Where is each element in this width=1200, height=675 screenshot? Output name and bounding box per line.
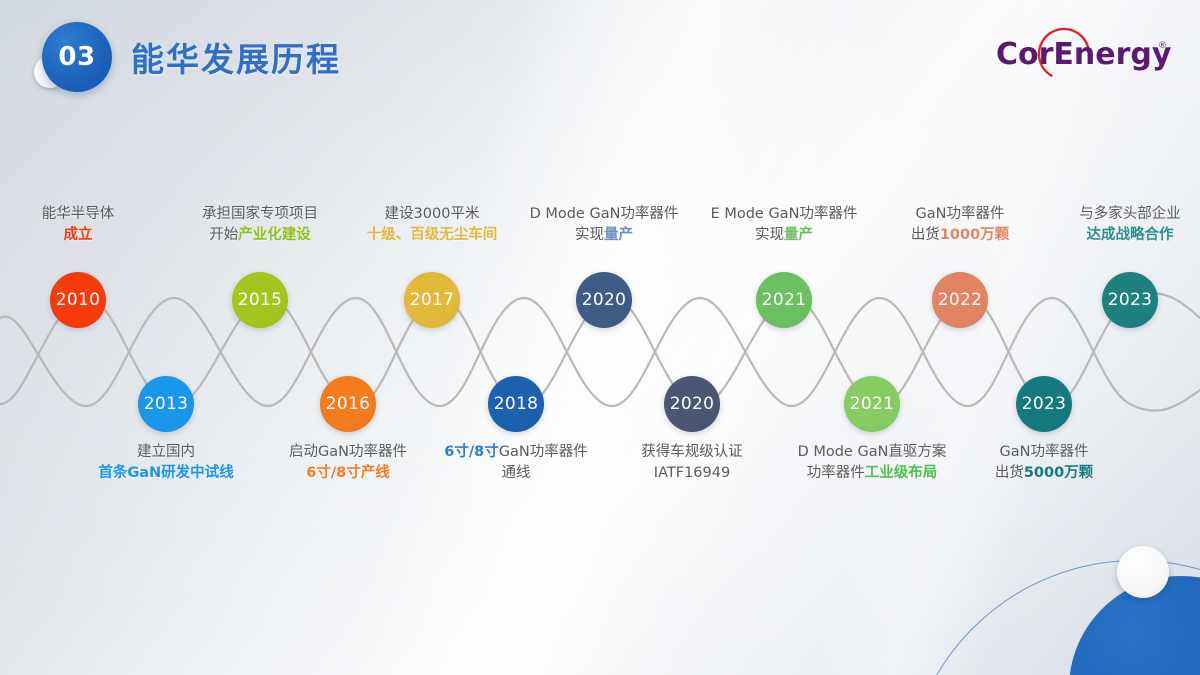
timeline-node-year: 2021 [762, 290, 806, 310]
timeline-node-2023-bottom[interactable]: 2023 [1016, 376, 1072, 432]
timeline-node-2013-bottom[interactable]: 2013 [138, 376, 194, 432]
timeline-label-plain: 获得车规级认证 [641, 444, 743, 460]
timeline-label-line-2: 达成战略合作 [1020, 225, 1200, 246]
timeline-label-highlight: 成立 [64, 227, 93, 243]
timeline-label-plain: 开始 [209, 227, 238, 243]
timeline-label-highlight: 1000万颗 [940, 227, 1009, 243]
timeline-label-highlight: 6寸/8寸产线 [306, 465, 389, 481]
timeline-label-line-1: 与多家头部企业 [1020, 204, 1200, 225]
timeline-node-year: 2010 [56, 290, 100, 310]
timeline-label-plain: 出货 [995, 465, 1024, 481]
timeline-node-year: 2016 [326, 394, 370, 414]
timeline-label-plain: 实现 [575, 227, 604, 243]
logo-trademark-icon: ® [1158, 41, 1167, 51]
timeline-label-highlight: 工业级布局 [865, 465, 938, 481]
timeline-label-plain: 出货 [911, 227, 940, 243]
timeline-label-highlight: 十级、百级无尘车间 [367, 227, 498, 243]
timeline-label-line-2: 出货5000万颗 [934, 463, 1154, 484]
timeline-label-highlight: 量产 [604, 227, 633, 243]
section-number: 03 [58, 42, 95, 72]
timeline-label-plain: D Mode GaN功率器件 [530, 206, 679, 222]
decor-white-circle-icon [1117, 546, 1169, 598]
timeline-node-year: 2020 [582, 290, 626, 310]
timeline-node-2015-top[interactable]: 2015 [232, 272, 288, 328]
timeline-node-year: 2018 [494, 394, 538, 414]
page-title: 能华发展历程 [131, 33, 341, 81]
timeline-label-plain: 与多家头部企业 [1079, 206, 1181, 222]
slide-root: 03 能华发展历程 CorEnergy ® 2010能华半导体成立2013建立国… [0, 0, 1200, 675]
timeline-node-year: 2021 [850, 394, 894, 414]
timeline-label-plain: 建立国内 [137, 444, 195, 460]
timeline-node-year: 2023 [1022, 394, 1066, 414]
timeline-node-2022-top[interactable]: 2022 [932, 272, 988, 328]
timeline-node-2020-top[interactable]: 2020 [576, 272, 632, 328]
timeline-label-plain: 通线 [502, 465, 531, 481]
section-number-badge: 03 [42, 22, 112, 92]
timeline-node-2020-bottom[interactable]: 2020 [664, 376, 720, 432]
timeline-node-2021-bottom[interactable]: 2021 [844, 376, 900, 432]
timeline-label-plain: 功率器件 [807, 465, 865, 481]
timeline-label-plain: 承担国家专项项目 [202, 206, 318, 222]
timeline-label-plain: 能华半导体 [42, 206, 115, 222]
timeline-label-plain: E Mode GaN功率器件 [711, 206, 858, 222]
timeline-node-year: 2017 [410, 290, 454, 310]
timeline-node-year: 2020 [670, 394, 714, 414]
timeline-node-2016-bottom[interactable]: 2016 [320, 376, 376, 432]
timeline-label-2023-bottom: GaN功率器件出货5000万颗 [934, 442, 1154, 484]
timeline-label-plain: IATF16949 [654, 465, 730, 481]
corenergy-logo: CorEnergy ® [988, 24, 1178, 86]
timeline-label-plain: 实现 [755, 227, 784, 243]
timeline-node-year: 2013 [144, 394, 188, 414]
timeline-node-2010-top[interactable]: 2010 [50, 272, 106, 328]
timeline-node-2023-top[interactable]: 2023 [1102, 272, 1158, 328]
timeline-label-plain: 启动GaN功率器件 [289, 444, 407, 460]
timeline-node-year: 2015 [238, 290, 282, 310]
timeline-node-2018-bottom[interactable]: 2018 [488, 376, 544, 432]
timeline-label-highlight: 量产 [784, 227, 813, 243]
timeline-label-highlight: 产业化建设 [238, 227, 311, 243]
logo-text: CorEnergy [996, 37, 1172, 72]
timeline-node-2017-top[interactable]: 2017 [404, 272, 460, 328]
timeline-label-plain: GaN功率器件 [499, 444, 588, 460]
timeline-label-highlight: 首条GaN研发中试线 [98, 465, 233, 481]
timeline-label-plain: D Mode GaN直驱方案 [798, 444, 947, 460]
timeline-label-plain: GaN功率器件 [1000, 444, 1089, 460]
timeline-label-highlight: 5000万颗 [1024, 465, 1093, 481]
timeline-label-highlight: 6寸/8寸 [444, 444, 498, 460]
timeline-label-plain: 建设3000平米 [385, 206, 480, 222]
timeline-node-year: 2022 [938, 290, 982, 310]
timeline-label-plain: GaN功率器件 [916, 206, 1005, 222]
timeline-node-2021-top[interactable]: 2021 [756, 272, 812, 328]
timeline-label-2023-top: 与多家头部企业达成战略合作 [1020, 204, 1200, 246]
timeline-label-line-1: GaN功率器件 [934, 442, 1154, 463]
timeline-label-highlight: 达成战略合作 [1087, 227, 1174, 243]
timeline-node-year: 2023 [1108, 290, 1152, 310]
